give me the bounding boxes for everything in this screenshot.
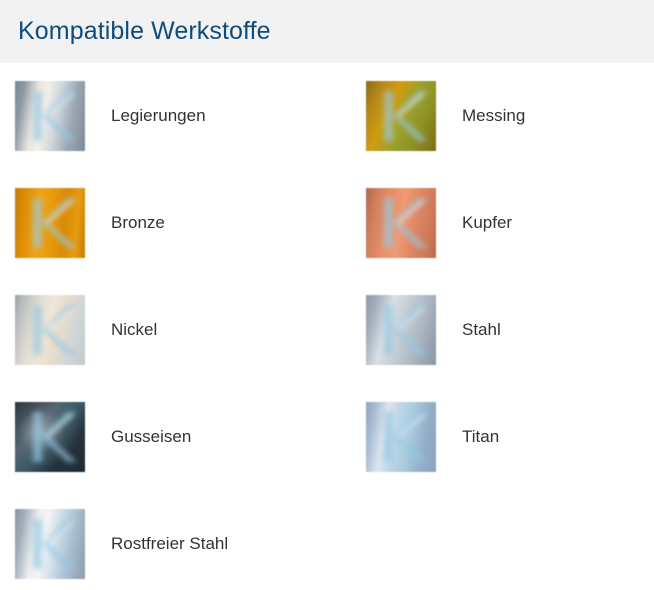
material-label: Bronze	[111, 213, 165, 233]
material-label: Nickel	[111, 320, 157, 340]
material-item[interactable]: Bronze	[15, 188, 366, 258]
material-label: Stahl	[462, 320, 501, 340]
k-watermark-icon	[15, 295, 85, 365]
material-label: Titan	[462, 427, 499, 447]
material-swatch-nickel[interactable]	[15, 295, 85, 365]
material-label: Rostfreier Stahl	[111, 534, 228, 554]
material-label: Legierungen	[111, 106, 206, 126]
k-watermark-icon	[366, 402, 436, 472]
page-title: Kompatible Werkstoffe	[18, 19, 271, 44]
k-watermark-icon	[15, 188, 85, 258]
material-swatch-brass[interactable]	[366, 81, 436, 151]
material-swatch-bronze[interactable]	[15, 188, 85, 258]
material-swatch-copper[interactable]	[366, 188, 436, 258]
material-swatch-stainless-steel[interactable]	[15, 509, 85, 579]
material-label: Kupfer	[462, 213, 512, 233]
k-watermark-icon	[366, 81, 436, 151]
page-header: Kompatible Werkstoffe	[0, 0, 654, 63]
material-label: Messing	[462, 106, 525, 126]
material-swatch-steel[interactable]	[366, 295, 436, 365]
material-item[interactable]: Stahl	[366, 295, 654, 365]
material-item[interactable]: Messing	[366, 81, 654, 151]
material-grid-inner: LegierungenMessingBronzeKupferNickelStah…	[0, 81, 654, 590]
material-swatch-alloy[interactable]	[15, 81, 85, 151]
k-watermark-icon	[15, 402, 85, 472]
k-watermark-icon	[366, 295, 436, 365]
material-swatch-cast-iron[interactable]	[15, 402, 85, 472]
material-swatch-titanium[interactable]	[366, 402, 436, 472]
material-item[interactable]: Titan	[366, 402, 654, 472]
material-item[interactable]: Rostfreier Stahl	[15, 509, 366, 579]
k-watermark-icon	[15, 509, 85, 579]
k-watermark-icon	[15, 81, 85, 151]
material-label: Gusseisen	[111, 427, 191, 447]
material-item[interactable]: Gusseisen	[15, 402, 366, 472]
compatible-materials-grid: LegierungenMessingBronzeKupferNickelStah…	[0, 63, 654, 590]
material-item[interactable]: Nickel	[15, 295, 366, 365]
material-item[interactable]: Kupfer	[366, 188, 654, 258]
k-watermark-icon	[366, 188, 436, 258]
material-item[interactable]: Legierungen	[15, 81, 366, 151]
